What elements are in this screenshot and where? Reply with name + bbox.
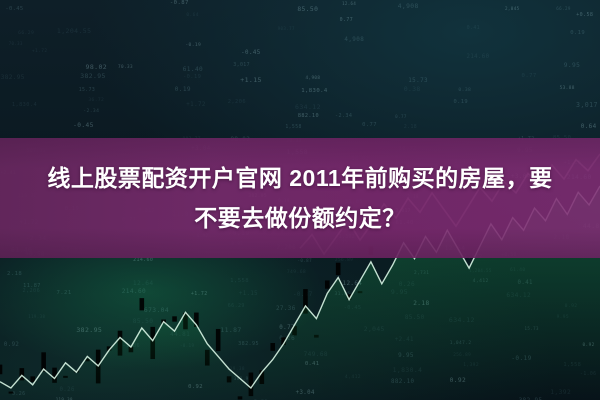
ticker-value: 0.38 <box>404 86 421 93</box>
ticker-value: +1.15 <box>240 76 262 84</box>
ticker-value: 1,830.4 <box>12 102 37 108</box>
ticker-value: 0.64 <box>186 13 198 18</box>
ticker-value: 0.19 <box>453 99 468 105</box>
ticker-value: 53.88 <box>560 86 575 91</box>
ticker-value: 70.33 <box>118 65 133 70</box>
ticker-value: 0.19 <box>570 30 585 36</box>
ticker-value: 3,017 <box>233 62 250 68</box>
ticker-value: 382.95 <box>1 74 25 81</box>
ticker-value: 382.95 <box>80 72 106 80</box>
ticker-value: -0.19 <box>185 43 201 48</box>
ticker-value: -0.45 <box>241 50 260 56</box>
page-title: 线上股票配资开户官网 2011年前购买的房屋，要 不要去做份额约定？ <box>20 158 580 238</box>
ticker-value: 36.72 <box>88 98 104 103</box>
candle-body <box>270 343 275 351</box>
ticker-value: 214.60 <box>467 54 490 60</box>
headline-line-1: 线上股票配资开户官网 2011年前购买的房屋，要 <box>47 165 552 191</box>
ticker-value: 0.77 <box>395 114 407 119</box>
candle-body <box>216 329 221 351</box>
ticker-value: 2.18 <box>404 125 417 130</box>
headline-band: 线上股票配资开户官网 2011年前购买的房屋，要 不要去做份额约定？ <box>0 138 600 258</box>
ticker-value: 9.95 <box>564 62 581 69</box>
ticker-value: 66.29 <box>18 31 34 36</box>
ticker-value: 634.12 <box>295 103 321 111</box>
ticker-value: 1,204.55 <box>57 27 92 35</box>
ticker-value: 70.33 <box>9 41 23 46</box>
candle-body <box>140 298 145 310</box>
ticker-value: 0.41 <box>467 26 480 31</box>
ticker-value: 98.02 <box>86 63 108 71</box>
ticker-value: 3,017 <box>576 101 598 109</box>
headline-line-2: 不要去做份额约定？ <box>20 198 580 238</box>
ticker-value: -2.34 <box>83 109 99 114</box>
ticker-value: 15.73 <box>79 88 95 93</box>
ticker-value: 15.73 <box>408 78 428 84</box>
candle-body <box>30 376 35 382</box>
ticker-value: 0.77 <box>522 73 537 79</box>
candle-body <box>325 280 330 288</box>
ticker-value: 0.64 <box>581 124 597 130</box>
ticker-value: +0.58 <box>576 12 593 18</box>
ticker-value: 1,558 <box>285 125 301 130</box>
ticker-value: 66.29 <box>556 6 571 11</box>
ticker-value: 61.40 <box>183 66 203 73</box>
candle-body <box>172 316 177 321</box>
ticker-value: 1,830.4 <box>301 88 327 94</box>
ticker-value: 903.77 <box>278 26 295 31</box>
ticker-value: 85.50 <box>297 6 318 13</box>
ticker-value: 882.10 <box>298 113 319 119</box>
ticker-value: 0.38 <box>458 88 471 93</box>
candle-body <box>0 365 2 375</box>
ticker-value: 4,908 <box>344 37 364 43</box>
stock-article-banner: -0.45-0.8785.5012.644,9082,04566.290.640… <box>0 0 600 400</box>
ticker-value: -0.45 <box>73 122 94 129</box>
ticker-value: +1.72 <box>186 102 205 108</box>
ticker-value: -2.34 <box>335 113 352 119</box>
ticker-value: -0.45 <box>5 6 23 12</box>
ticker-value: 4,908 <box>305 76 320 81</box>
ticker-value: -0.87 <box>170 0 189 6</box>
ticker-value: 2,206 <box>228 99 246 105</box>
ticker-value: +1.72 <box>32 49 48 54</box>
ticker-value: 2,045 <box>505 6 520 11</box>
ticker-value: 0.19 <box>175 86 191 93</box>
ticker-value: 0.77 <box>362 122 377 128</box>
ticker-value: -0.19 <box>183 74 201 80</box>
candle-body <box>336 263 341 275</box>
ticker-value: 0.77 <box>340 17 353 23</box>
ticker-value: 12.64 <box>342 1 356 6</box>
ticker-value: 4,908 <box>398 3 419 10</box>
